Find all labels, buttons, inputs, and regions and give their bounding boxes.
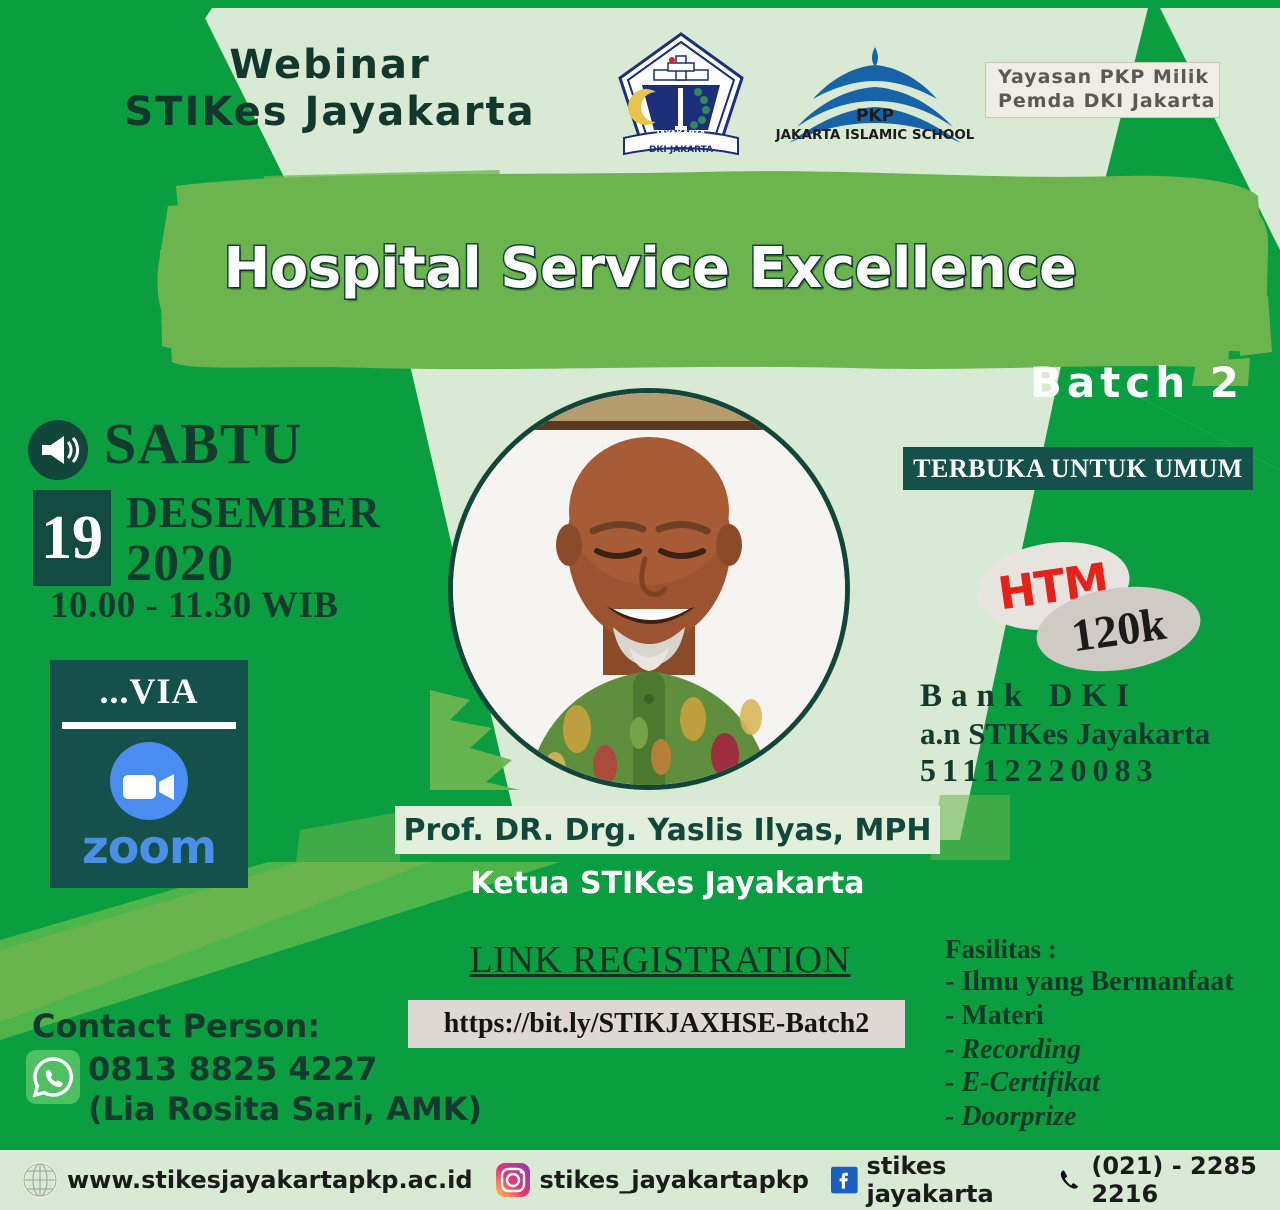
pkp-abbr-text: PKP: [856, 106, 894, 126]
facility-item: - Recording: [945, 1033, 1275, 1067]
facilities-heading: Fasilitas :: [945, 933, 1275, 965]
yayasan-line2: Pemda DKI Jakarta: [998, 90, 1219, 114]
event-day: SABTU: [104, 415, 302, 473]
footer-phone[interactable]: (021) - 2285 2216: [1057, 1152, 1280, 1208]
event-date-number: 19: [33, 490, 111, 586]
facility-item: - Doorprize: [945, 1100, 1275, 1134]
registration-title: LINK REGISTRATION: [410, 938, 910, 982]
footer-bar: www.stikesjayakartapkp.ac.id stikes_jaya…: [0, 1144, 1280, 1210]
megaphone-icon: [28, 420, 88, 480]
footer-website-text[interactable]: www.stikesjayakartapkp.ac.id: [67, 1166, 473, 1194]
speaker-name: Prof. DR. Drg. Yaslis Ilyas, MPH: [404, 813, 932, 848]
zoom-wordmark: zoom: [50, 820, 248, 874]
webinar-heading: Webinar STIKes Jayakarta: [95, 42, 565, 136]
pkp-school-text: JAKARTA ISLAMIC SCHOOL: [775, 127, 975, 143]
bank-account-holder: a.n STIKes Jayakarta: [920, 716, 1260, 752]
whatsapp-icon[interactable]: [26, 1050, 80, 1104]
stikes-jayakarta-logo: DKI JAKARTA JAYAKARTA: [612, 30, 750, 162]
instagram-icon: [495, 1162, 531, 1198]
speaker-role: Ketua STIKes Jayakarta: [395, 866, 940, 901]
globe-icon: [22, 1162, 58, 1198]
facebook-icon: [831, 1163, 858, 1197]
pkp-jakarta-islamic-school-logo: PKP JAKARTA ISLAMIC SCHOOL: [775, 45, 975, 145]
logo-bottom-ribbon-text: DKI JAKARTA: [649, 145, 713, 155]
facilities-list: Fasilitas : - Ilmu yang Bermanfaat - Mat…: [945, 933, 1275, 1133]
registration-url[interactable]: https://bit.ly/STIKJAXHSE-Batch2: [444, 1008, 870, 1040]
footer-website[interactable]: www.stikesjayakartapkp.ac.id: [22, 1162, 473, 1198]
footer-instagram[interactable]: stikes_jayakartapkp: [495, 1162, 809, 1198]
footer-facebook-text[interactable]: stikes jayakarta: [867, 1152, 1036, 1208]
svg-text:JAYAKARTA: JAYAKARTA: [656, 129, 707, 138]
poster-header: Webinar STIKes Jayakarta DKI JAKARTA JAY…: [0, 0, 1280, 170]
facility-item: - E-Certifikat: [945, 1066, 1275, 1100]
registration-link-box[interactable]: https://bit.ly/STIKJAXHSE-Batch2: [408, 1000, 905, 1048]
webinar-heading-line2: STIKes Jayakarta: [95, 89, 565, 136]
phone-icon: [1057, 1164, 1082, 1196]
video-camera-icon: [123, 772, 175, 802]
yayasan-line1: Yayasan PKP Milik: [998, 66, 1219, 90]
bank-details: Bank DKI a.n STIKes Jayakarta 5111222008…: [920, 678, 1260, 789]
platform-card: ...VIA zoom: [50, 660, 248, 888]
via-divider: [62, 722, 236, 729]
contact-phone: 0813 8825 4227: [88, 1050, 377, 1088]
footer-phone-text[interactable]: (021) - 2285 2216: [1091, 1152, 1280, 1208]
yayasan-badge: Yayasan PKP Milik Pemda DKI Jakarta: [985, 62, 1220, 118]
event-time: 10.00 - 11.30 WIB: [50, 584, 338, 627]
facility-item: - Ilmu yang Bermanfaat: [945, 965, 1275, 999]
contact-person-name: (Lia Rosita Sari, AMK): [88, 1090, 482, 1128]
contact-heading: Contact Person:: [32, 1007, 320, 1045]
facility-item: - Materi: [945, 999, 1275, 1033]
speaker-name-band: Prof. DR. Drg. Yaslis Ilyas, MPH: [395, 806, 940, 854]
bank-name: Bank DKI: [920, 678, 1260, 716]
webinar-heading-line1: Webinar: [95, 42, 565, 89]
bank-account-number: 51112220083: [920, 752, 1260, 789]
page-title: Hospital Service Excellence: [190, 236, 1110, 301]
footer-facebook[interactable]: stikes jayakarta: [831, 1152, 1035, 1208]
poster-canvas: Webinar STIKes Jayakarta DKI JAKARTA JAY…: [0, 0, 1280, 1210]
via-label: ...VIA: [50, 670, 248, 712]
speaker-portrait-illustration: [453, 393, 845, 785]
footer-instagram-text[interactable]: stikes_jayakartapkp: [540, 1166, 809, 1194]
open-to-public-badge: TERBUKA UNTUK UMUM: [903, 447, 1253, 490]
event-month: DESEMBER: [126, 487, 381, 538]
speaker-photo: [448, 388, 850, 790]
batch-label: Batch 2: [1030, 358, 1244, 407]
